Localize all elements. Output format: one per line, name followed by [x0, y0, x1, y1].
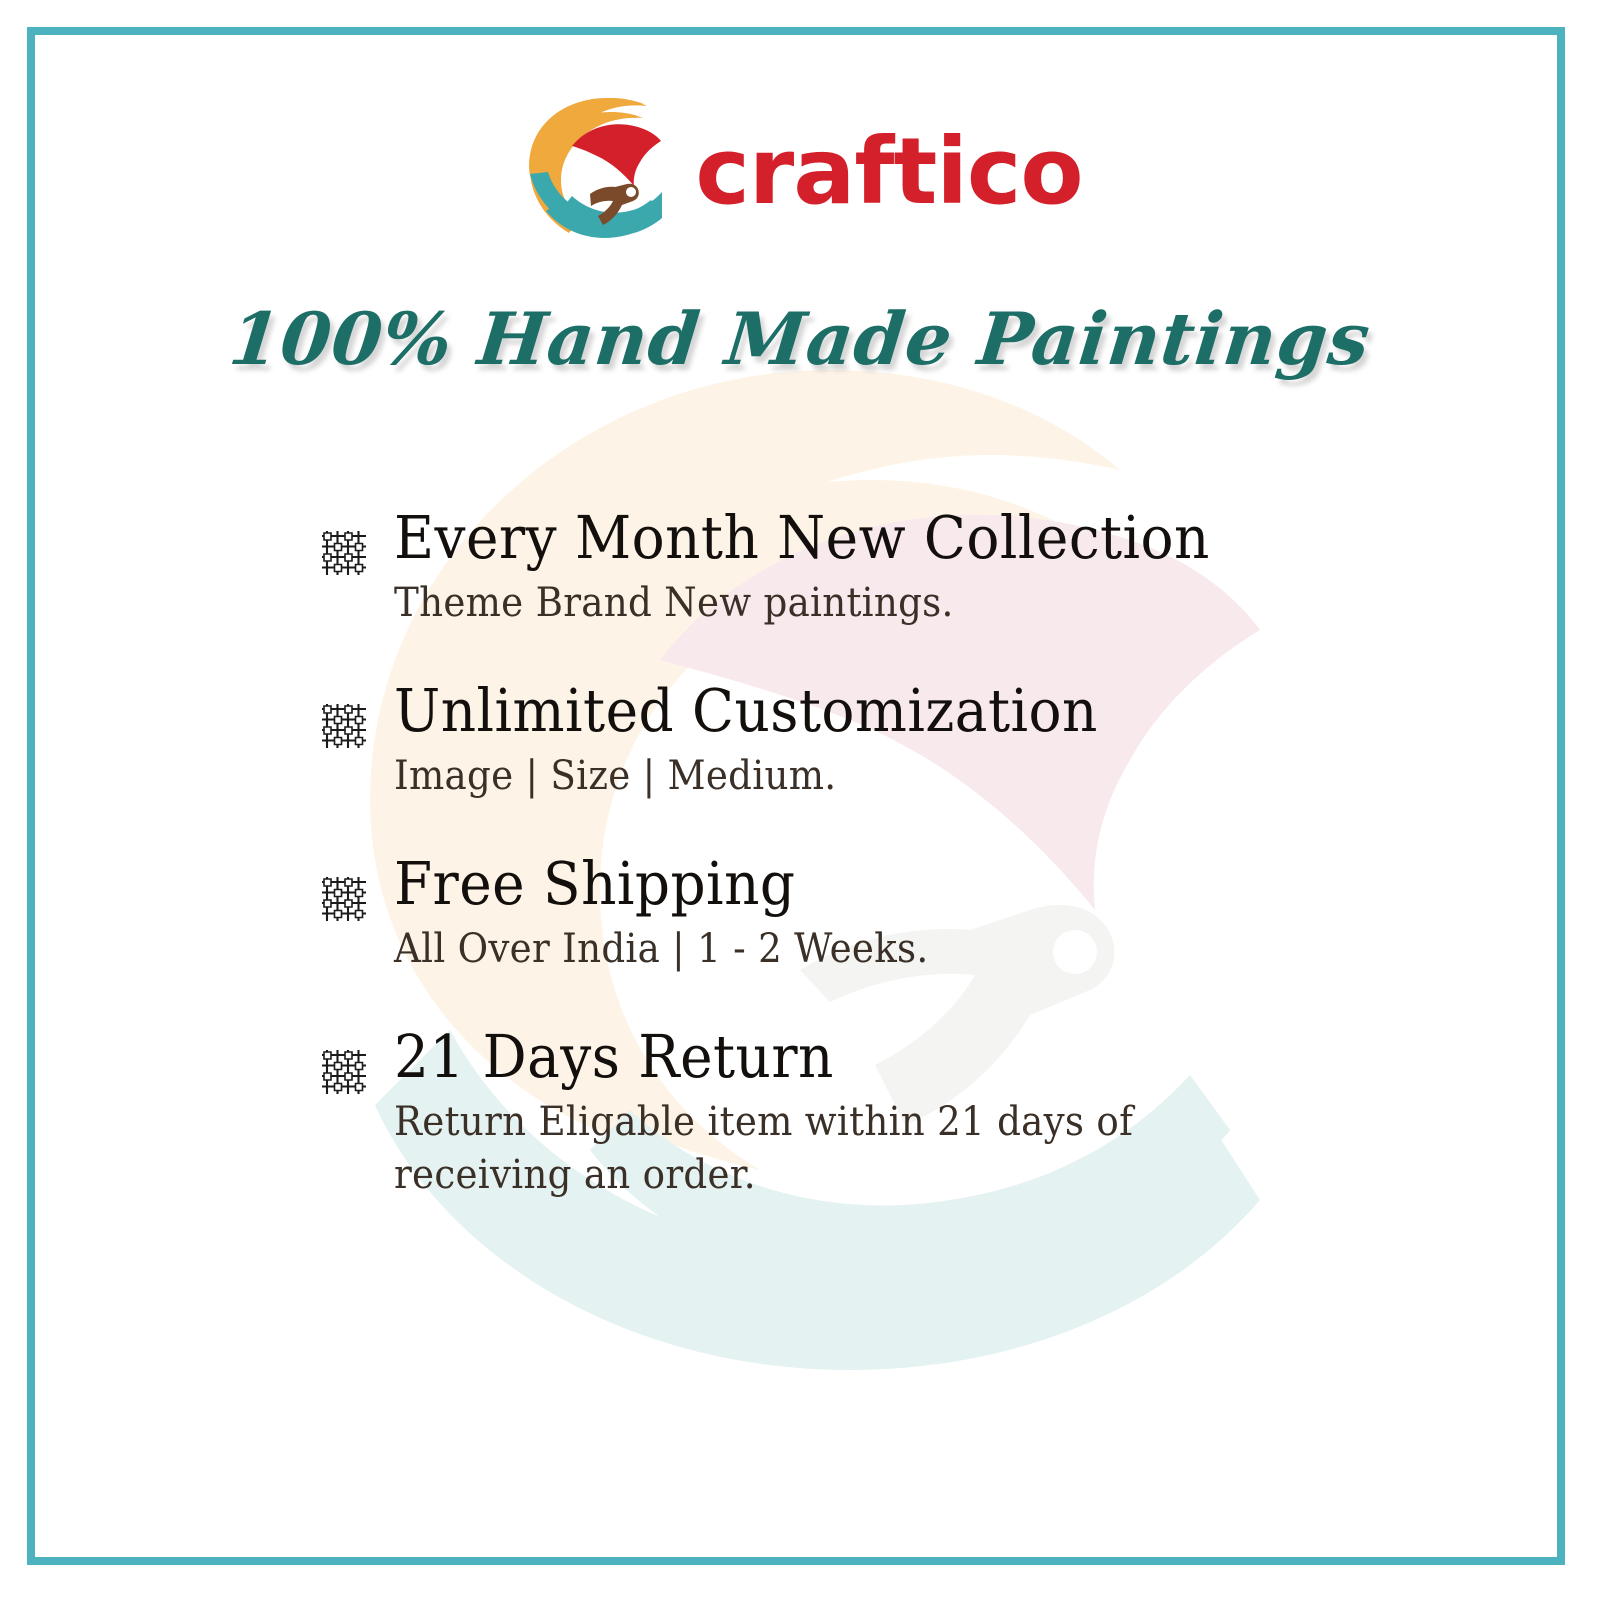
feature-text: Free Shipping All Over India | 1 - 2 Wee… — [394, 851, 1438, 976]
feature-subtitle: All Over India | 1 - 2 Weeks. — [394, 923, 1138, 976]
craftico-c-logo-icon — [517, 92, 669, 244]
woven-fabric-icon — [318, 873, 370, 925]
feature-title: Unlimited Customization — [394, 678, 1365, 744]
brand-logo: craftico — [0, 88, 1600, 248]
feature-title: Free Shipping — [394, 851, 1365, 917]
page-title: 100% Hand Made Paintings — [0, 296, 1600, 381]
feature-text: Every Month New Collection Theme Brand N… — [394, 505, 1438, 630]
woven-fabric-icon — [318, 527, 370, 579]
promo-poster: craftico 100% Hand Made Paintings Every … — [0, 0, 1600, 1600]
feature-title: 21 Days Return — [394, 1024, 1365, 1090]
feature-text: 21 Days Return Return Eligable item with… — [394, 1024, 1438, 1202]
woven-fabric-icon — [318, 700, 370, 752]
list-item: Free Shipping All Over India | 1 - 2 Wee… — [318, 851, 1438, 976]
list-item: 21 Days Return Return Eligable item with… — [318, 1024, 1438, 1202]
feature-subtitle: Image | Size | Medium. — [394, 750, 1138, 803]
list-item: Every Month New Collection Theme Brand N… — [318, 505, 1438, 630]
woven-fabric-icon — [318, 1046, 370, 1098]
feature-list: Every Month New Collection Theme Brand N… — [318, 505, 1438, 1201]
feature-title: Every Month New Collection — [394, 505, 1365, 571]
feature-text: Unlimited Customization Image | Size | M… — [394, 678, 1438, 803]
list-item: Unlimited Customization Image | Size | M… — [318, 678, 1438, 803]
feature-subtitle: Return Eligable item within 21 days of r… — [394, 1096, 1138, 1202]
brand-wordmark: craftico — [695, 126, 1082, 218]
feature-subtitle: Theme Brand New paintings. — [394, 577, 1138, 630]
